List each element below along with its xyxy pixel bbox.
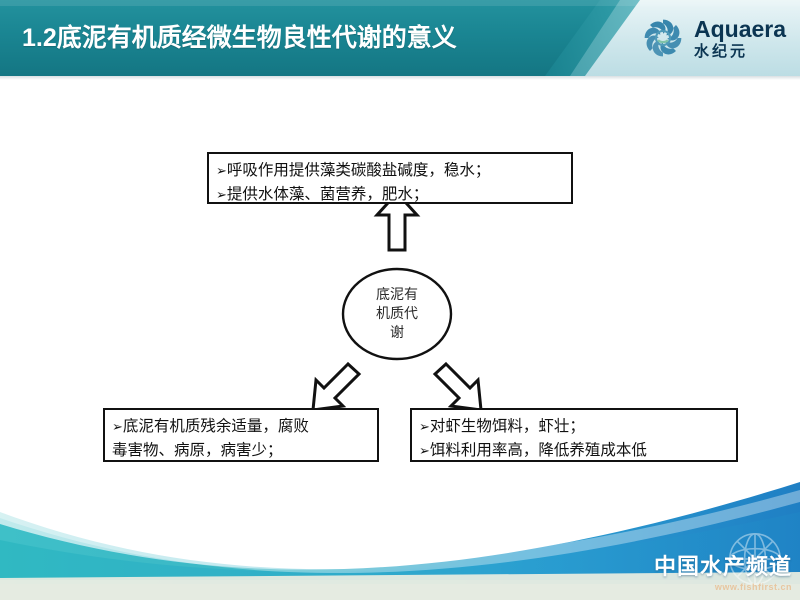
slide-header-band: 1.2底泥有机质经微生物良性代谢的意义	[0, 0, 800, 76]
text-box-bottom-right: ➢对虾生物饵料，虾壮； ➢饵料利用率高，降低养殖成本低	[410, 408, 738, 462]
text-box-top-line-2-text: 提供水体藻、菌营养，肥水；	[227, 185, 429, 203]
text-box-bottom-right-line-2-text: 饵料利用率高，降低养殖成本低	[430, 441, 647, 459]
center-node-line-3: 谢	[390, 324, 404, 343]
center-node-line-2: 机质代	[376, 305, 418, 324]
arrow-down-right-icon	[435, 364, 481, 410]
text-box-bottom-left-line-2-text: 毒害物、病原，病害少；	[112, 441, 283, 459]
text-box-bottom-left-line-2: 毒害物、病原，病害少；	[112, 439, 371, 462]
center-node-label: 底泥有 机质代 谢	[340, 266, 454, 362]
page-title: 1.2底泥有机质经微生物良性代谢的意义	[22, 18, 457, 54]
brand-logo-text: Aquaera 水纪元	[694, 18, 786, 59]
bullet-icon: ➢	[112, 420, 123, 435]
bullet-icon: ➢	[419, 444, 430, 459]
bullet-icon: ➢	[216, 164, 227, 179]
text-box-bottom-left: ➢底泥有机质残余适量，腐败 毒害物、病原，病害少；	[103, 408, 379, 462]
bullet-icon: ➢	[216, 188, 227, 203]
center-node: 底泥有 机质代 谢	[340, 266, 454, 362]
text-box-bottom-right-line-1-text: 对虾生物饵料，虾壮；	[430, 417, 585, 435]
text-box-bottom-right-line-2: ➢饵料利用率高，降低养殖成本低	[419, 439, 730, 463]
bullet-icon: ➢	[419, 420, 430, 435]
text-box-top-line-1-text: 呼吸作用提供藻类碳酸盐碱度，稳水；	[227, 161, 491, 179]
slide-canvas: 1.2底泥有机质经微生物良性代谢的意义	[0, 0, 800, 600]
arrow-down-left-icon	[313, 364, 359, 410]
footer-watermark: 中国水产频道 www.fishfirst.cn	[612, 549, 792, 592]
watermark-url: www.fishfirst.cn	[612, 582, 792, 592]
brand-logo: Aquaera 水纪元	[636, 8, 788, 68]
text-box-top-line-1: ➢呼吸作用提供藻类碳酸盐碱度，稳水；	[216, 159, 565, 183]
text-box-bottom-left-line-1: ➢底泥有机质残余适量，腐败	[112, 415, 371, 439]
center-node-line-1: 底泥有	[376, 286, 418, 305]
text-box-top-line-2: ➢提供水体藻、菌营养，肥水；	[216, 183, 565, 207]
watermark-title: 中国水产频道	[612, 549, 792, 581]
diagram-area: ➢呼吸作用提供藻类碳酸盐碱度，稳水； ➢提供水体藻、菌营养，肥水； 底泥有 机质…	[0, 76, 800, 496]
brand-name: Aquaera	[694, 18, 786, 41]
text-box-bottom-left-line-1-text: 底泥有机质残余适量，腐败	[123, 417, 309, 435]
text-box-top: ➢呼吸作用提供藻类碳酸盐碱度，稳水； ➢提供水体藻、菌营养，肥水；	[207, 152, 573, 204]
brand-name-cn: 水纪元	[694, 44, 786, 59]
aquaera-swirl-logo-icon	[636, 11, 690, 65]
text-box-bottom-right-line-1: ➢对虾生物饵料，虾壮；	[419, 415, 730, 439]
